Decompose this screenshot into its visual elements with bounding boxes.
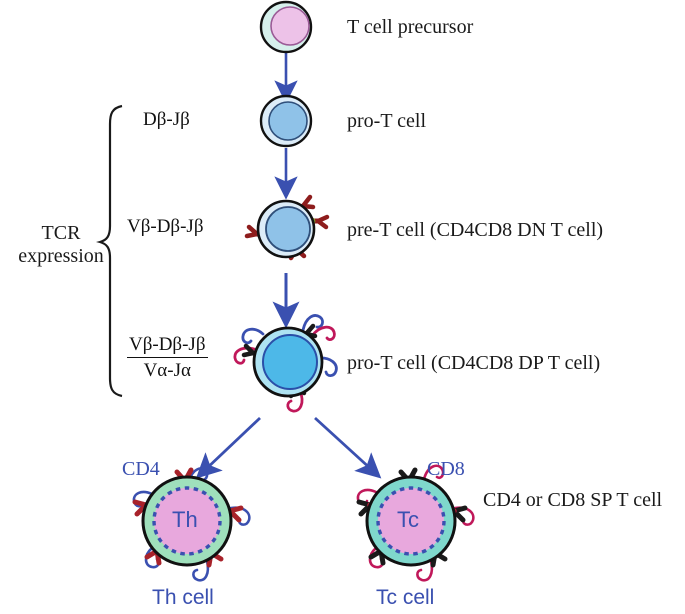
tcr-expression-label: TCR expression	[18, 222, 104, 268]
tcr-expression-line1: TCR	[18, 222, 104, 245]
tc-cell-name-label: Tc cell	[376, 586, 434, 609]
th-inner-label: Th	[172, 508, 198, 532]
cell-dp-t-cell	[235, 316, 336, 412]
gene-label-stage4-denominator: Vα-Jα	[127, 358, 208, 382]
tcr-expression-line2: expression	[18, 245, 104, 268]
gene-label-stage4: Vβ-Dβ-Jβ Vα-Jα	[127, 334, 208, 382]
stage-label-t-cell-precursor: T cell precursor	[347, 16, 473, 38]
stage-label-pro-t-cell: pro-T cell	[347, 110, 426, 132]
gene-label-stage3: Vβ-Dβ-Jβ	[127, 217, 204, 238]
sp-t-cell-label: CD4 or CD8 SP T cell	[483, 489, 662, 511]
t-cell-development-diagram: TCR expression Dβ-Jβ Vβ-Dβ-Jβ Vβ-Dβ-Jβ V…	[0, 0, 685, 614]
arrow-dp-to-th	[205, 418, 260, 470]
tc-inner-label: Tc	[397, 508, 419, 532]
cell-pro-t-cell	[261, 96, 311, 146]
gene-label-stage4-numerator: Vβ-Dβ-Jβ	[127, 334, 208, 358]
gene-label-stage2: Dβ-Jβ	[143, 110, 190, 131]
cd4-marker-label: CD4	[122, 458, 160, 480]
stage-label-pre-t-cell: pre-T cell (CD4CD8 DN T cell)	[347, 219, 603, 241]
cell-pre-t-cell	[247, 197, 327, 258]
cd8-marker-label: CD8	[427, 458, 465, 480]
diagram-graphics	[0, 0, 685, 614]
th-cell-name-label: Th cell	[152, 586, 214, 609]
cell-t-cell-precursor	[261, 2, 311, 52]
stage-label-dp-t-cell: pro-T cell (CD4CD8 DP T cell)	[347, 352, 600, 374]
arrow-dp-to-tc	[315, 418, 372, 470]
